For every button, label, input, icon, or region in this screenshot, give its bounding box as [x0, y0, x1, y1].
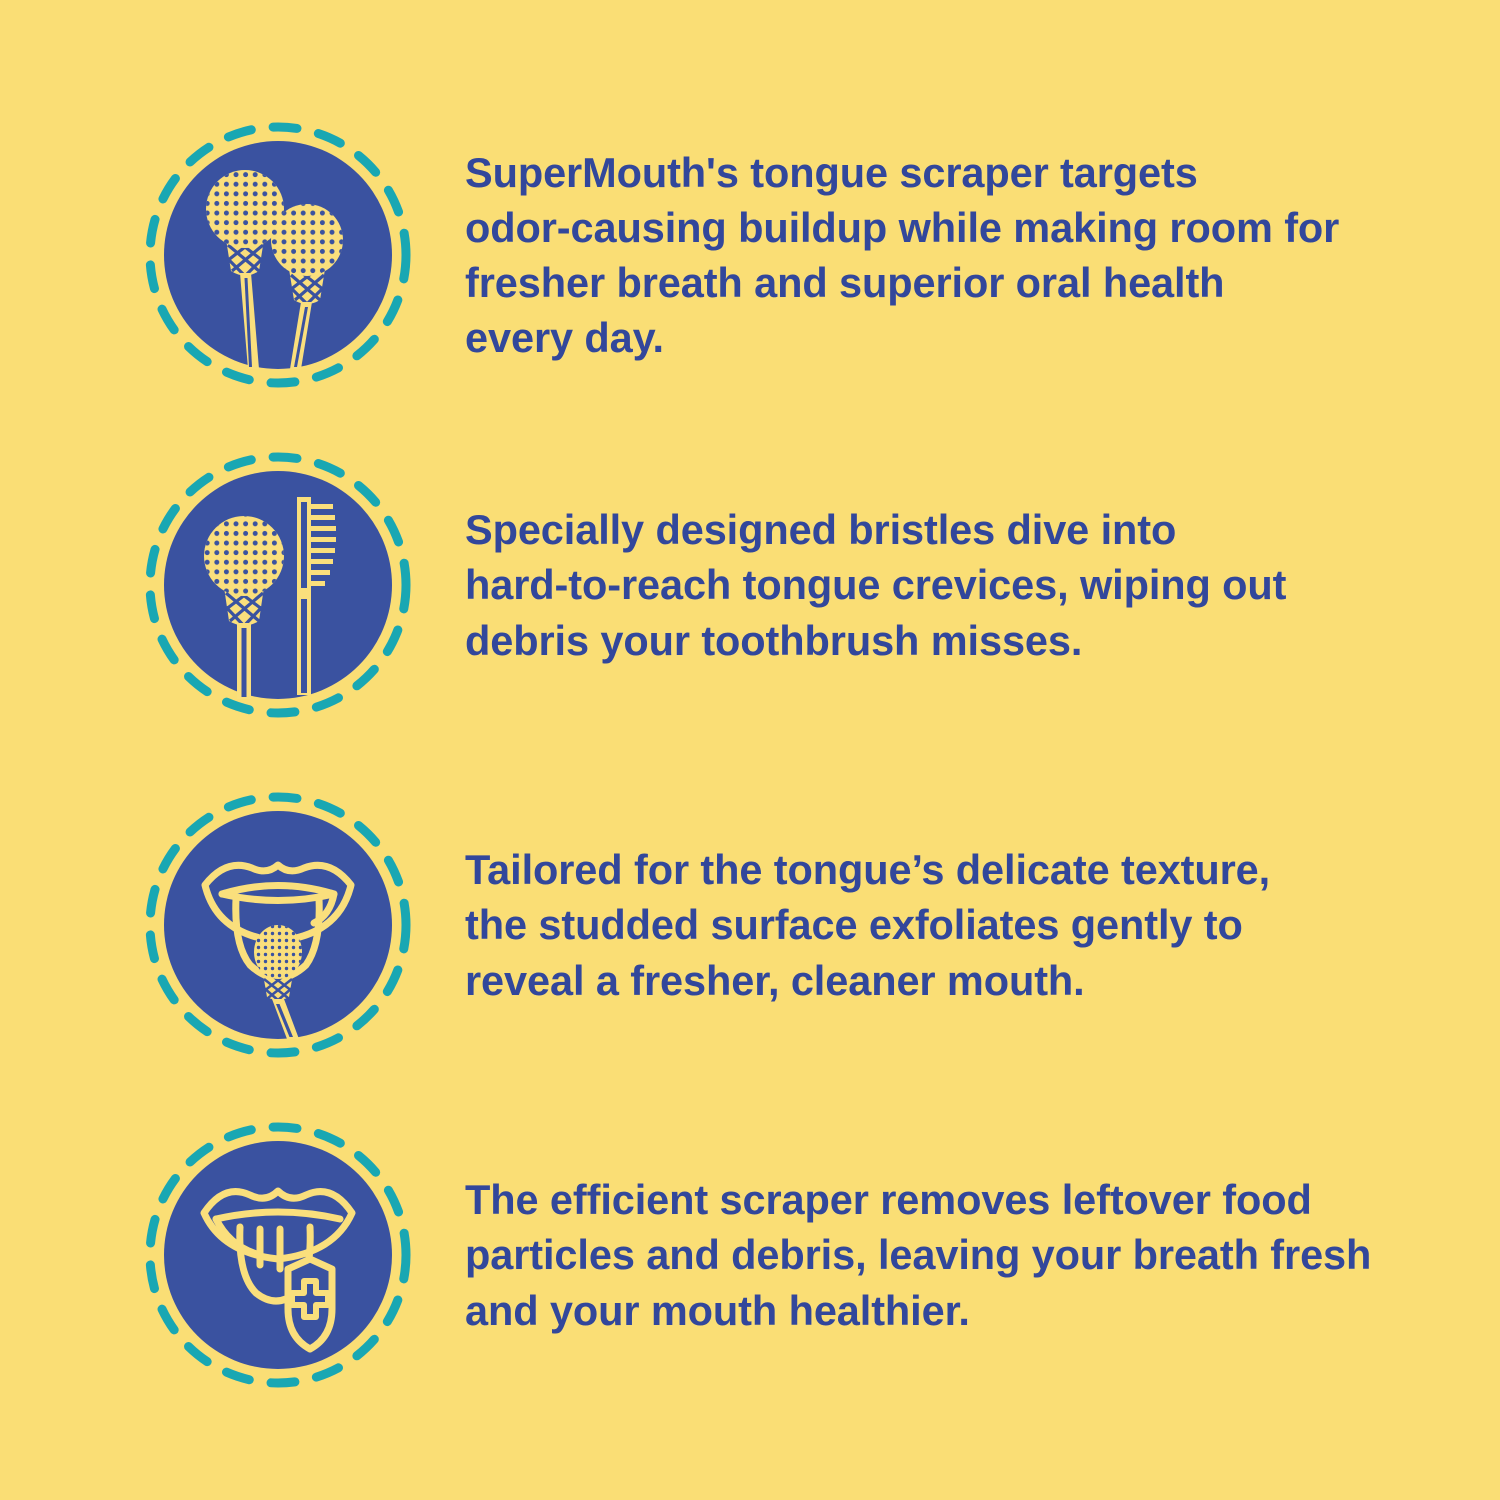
tongue-scraper-and-bristle-brush-icon: [139, 446, 417, 724]
benefits-infographic: SuperMouth's tongue scraper targets odor…: [0, 0, 1500, 1500]
benefit-row: Specially designed bristles dive into ha…: [0, 446, 1500, 724]
benefit-description: Tailored for the tongue’s delicate textu…: [465, 842, 1500, 1008]
mouth-scraping-art: [164, 811, 392, 1039]
open-mouth-tongue-with-scraper-icon: [139, 786, 417, 1064]
scraper-pair-art: [164, 141, 392, 369]
two-tongue-scrapers-icon: [139, 116, 417, 394]
benefit-description: The efficient scraper removes leftover f…: [465, 1172, 1500, 1338]
mouth-shield-art: [164, 1141, 392, 1369]
benefit-row: SuperMouth's tongue scraper targets odor…: [0, 116, 1500, 394]
scraper-and-brush-art: [164, 471, 392, 699]
benefit-row: The efficient scraper removes leftover f…: [0, 1116, 1500, 1394]
benefit-description: Specially designed bristles dive into ha…: [465, 502, 1500, 668]
benefit-description: SuperMouth's tongue scraper targets odor…: [465, 145, 1500, 366]
shield-plus-icon: [288, 1259, 332, 1349]
benefit-row: Tailored for the tongue’s delicate textu…: [0, 786, 1500, 1064]
mouth-tongue-with-protection-shield-icon: [139, 1116, 417, 1394]
